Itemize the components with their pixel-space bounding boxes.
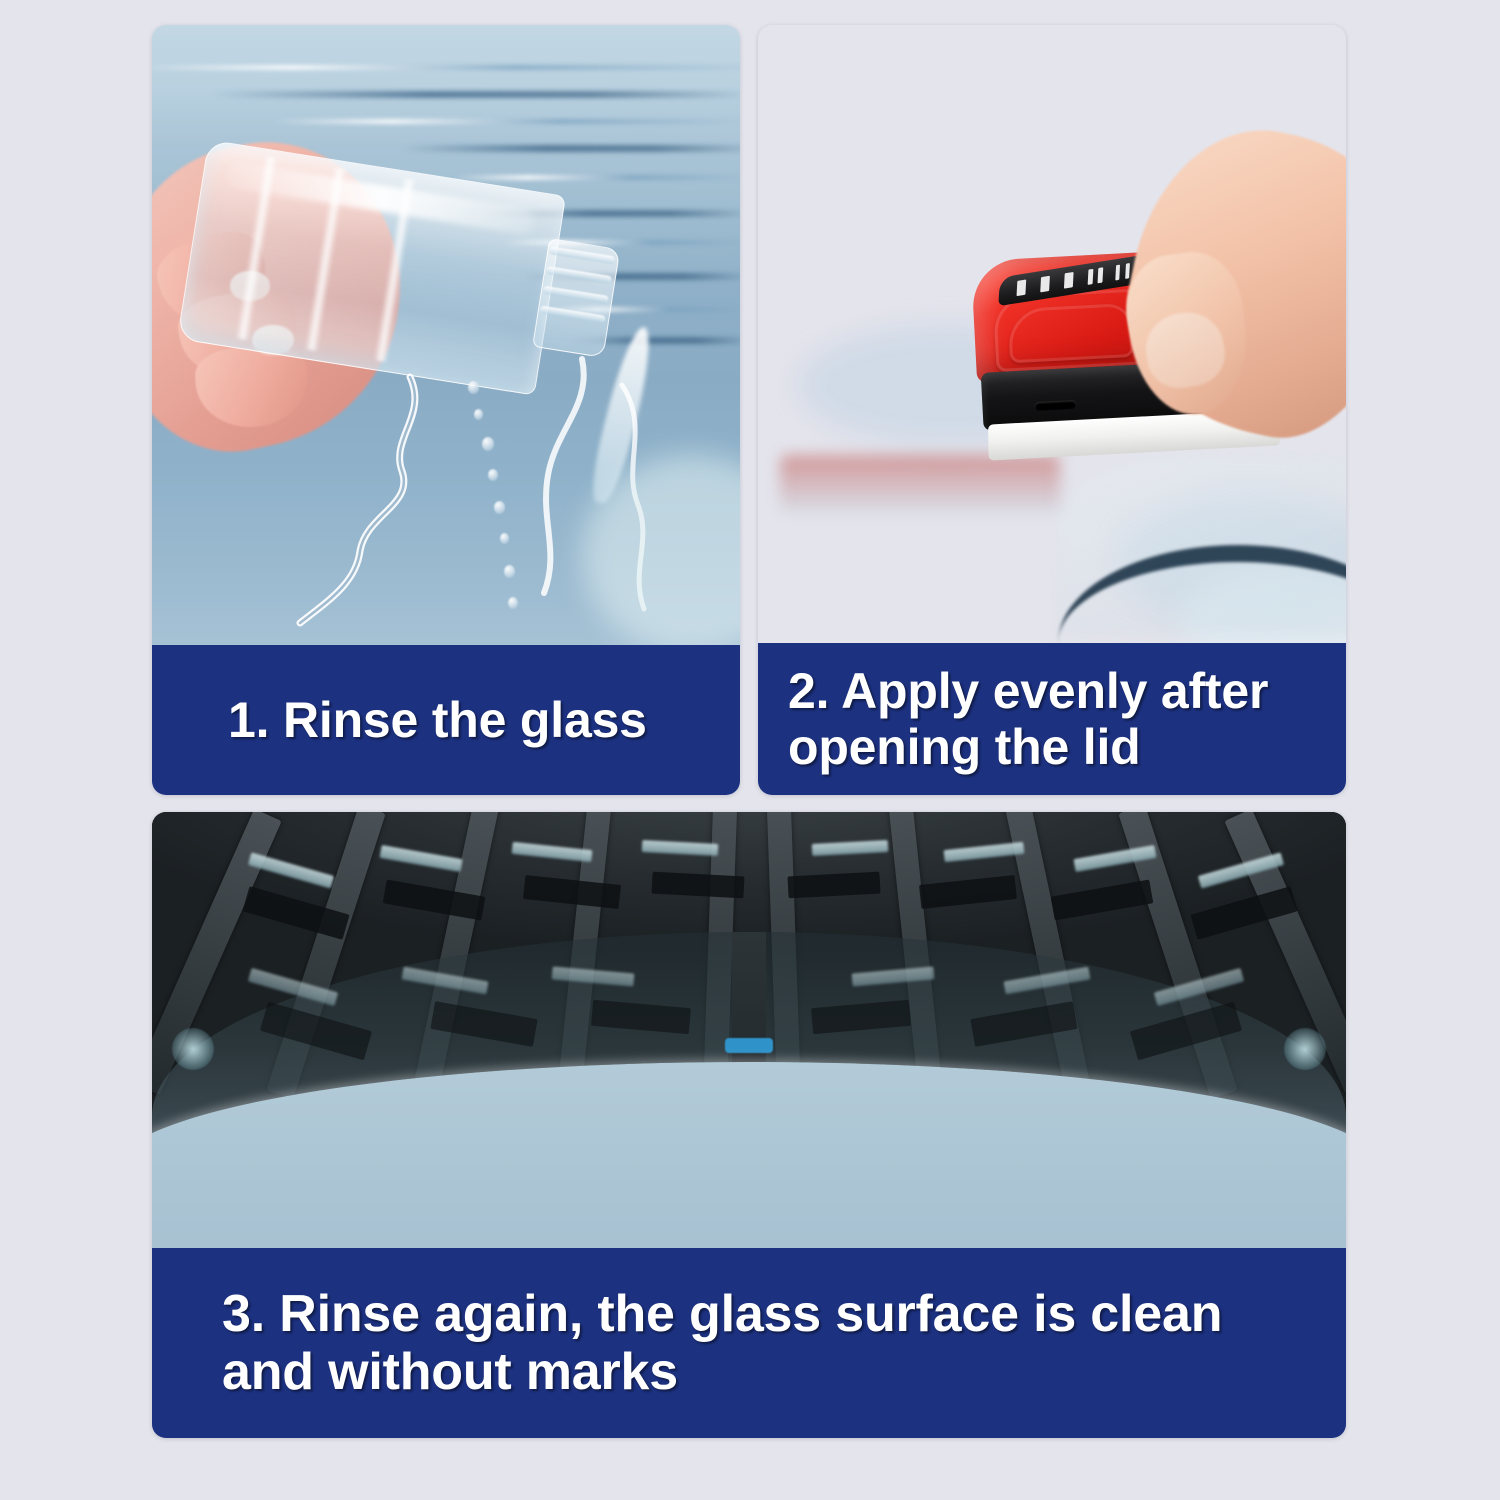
step-panel-3: 3. Rinse again, the glass surface is cle… bbox=[152, 812, 1346, 1438]
step-panel-2: 2. Apply evenly after opening the lid bbox=[758, 25, 1346, 795]
caption-text-step-1: 1. Rinse the glass bbox=[228, 692, 647, 748]
sensor-chip bbox=[725, 1038, 773, 1053]
glass-corner-marking-left bbox=[172, 1028, 214, 1070]
caption-bar-step-1: 1. Rinse the glass bbox=[152, 645, 740, 795]
caption-text-step-2: 2. Apply evenly after opening the lid bbox=[788, 663, 1268, 775]
glass-corner-marking-right bbox=[1284, 1028, 1326, 1070]
instruction-infographic: 1. Rinse the glass bbox=[0, 0, 1500, 1500]
caption-text-step-3: 3. Rinse again, the glass surface is cle… bbox=[222, 1285, 1222, 1401]
caption-bar-step-2: 2. Apply evenly after opening the lid bbox=[758, 643, 1346, 795]
caption-bar-step-3: 3. Rinse again, the glass surface is cle… bbox=[152, 1248, 1346, 1438]
step-panel-1: 1. Rinse the glass bbox=[152, 25, 740, 795]
